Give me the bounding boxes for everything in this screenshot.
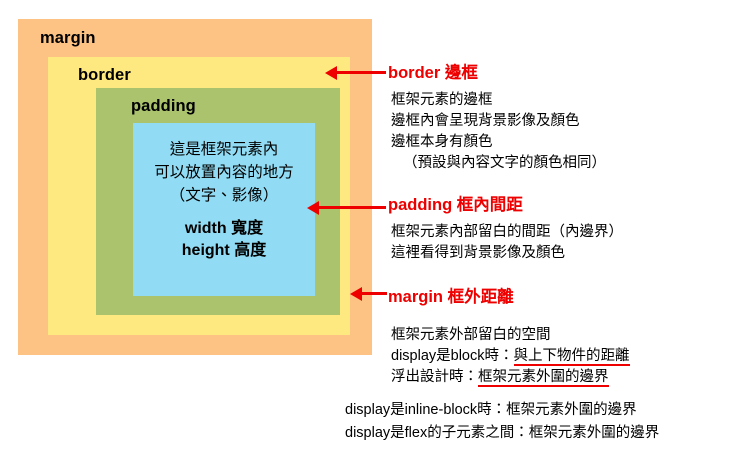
annotation-border-line-2: 邊框內會呈現背景影像及顏色 <box>391 111 606 132</box>
content-line-1: 這是框架元素內 <box>133 138 315 161</box>
annotation-border-line-4: （預設與內容文字的顏色相同） <box>391 153 606 174</box>
annotation-margin: margin 框外距離 框架元素外部留白的空間 display是block時：與… <box>388 283 630 388</box>
annotation-margin-line-1: 框架元素外部留白的空間 <box>391 325 630 346</box>
annotation-margin-line-2: display是block時：與上下物件的距離 <box>391 346 630 367</box>
content-line-2: 可以放置內容的地方 <box>133 161 315 184</box>
annotation-margin-heading: margin 框外距離 <box>388 283 630 307</box>
annotation-margin-line-2-prefix: display是block時： <box>391 348 514 364</box>
annotation-margin-line-3-prefix: 浮出設計時： <box>391 369 478 385</box>
annotation-extra-line-2-prefix: display是flex的子元素之間： <box>345 425 529 441</box>
annotation-padding-heading: padding 框內間距 <box>388 191 623 215</box>
annotation-extra-line-2-underlined: 框架元素外圍的邊界 <box>529 425 660 441</box>
annotation-border-heading: border 邊框 <box>388 59 606 83</box>
annotation-margin-line-2-underlined: 與上下物件的距離 <box>514 348 630 366</box>
content-spacer <box>133 207 315 218</box>
annotation-extra-line-1: display是inline-block時：框架元素外圍的邊界 <box>345 399 659 422</box>
content-box-text: 這是框架元素內 可以放置內容的地方 （文字、影像） width 寬度 heigh… <box>133 138 315 262</box>
content-width-label: width 寬度 <box>133 218 315 240</box>
arrow-to-border-icon <box>336 71 386 74</box>
annotation-margin-line-3-underlined: 框架元素外圍的邊界 <box>478 369 609 387</box>
annotation-padding-line-2: 這裡看得到背景影像及顏色 <box>391 243 623 264</box>
content-height-label: height 高度 <box>133 240 315 262</box>
annotation-extra-line-2: display是flex的子元素之間：框架元素外圍的邊界 <box>345 422 659 445</box>
annotation-border-line-3: 邊框本身有顏色 <box>391 132 606 153</box>
border-box: border padding 這是框架元素內 可以放置內容的地方 （文字、影像）… <box>48 57 350 335</box>
padding-box-label: padding <box>131 97 196 116</box>
border-box-label: border <box>78 66 131 85</box>
padding-box: padding 這是框架元素內 可以放置內容的地方 （文字、影像） width … <box>96 88 340 315</box>
annotation-extra: display是inline-block時：框架元素外圍的邊界 display是… <box>345 399 659 445</box>
arrow-to-padding-icon <box>318 206 386 209</box>
annotation-padding: padding 框內間距 框架元素內部留白的間距（內邊界） 這裡看得到背景影像及… <box>388 191 623 264</box>
margin-box: margin border padding 這是框架元素內 可以放置內容的地方 … <box>18 19 372 355</box>
arrow-to-margin-icon <box>361 292 387 295</box>
margin-box-label: margin <box>40 29 96 48</box>
annotation-extra-line-1-underlined: 框架元素外圍的邊界 <box>506 402 637 418</box>
annotation-padding-line-1: 框架元素內部留白的間距（內邊界） <box>391 222 623 243</box>
annotation-extra-line-1-prefix: display是inline-block時： <box>345 402 506 418</box>
box-model-diagram-canvas: margin border padding 這是框架元素內 可以放置內容的地方 … <box>0 0 750 461</box>
annotation-border-line-1: 框架元素的邊框 <box>391 90 606 111</box>
annotation-margin-line-3: 浮出設計時：框架元素外圍的邊界 <box>391 367 630 388</box>
content-line-3: （文字、影像） <box>133 184 315 207</box>
content-box: 這是框架元素內 可以放置內容的地方 （文字、影像） width 寬度 heigh… <box>133 123 315 296</box>
annotation-border: border 邊框 框架元素的邊框 邊框內會呈現背景影像及顏色 邊框本身有顏色 … <box>388 59 606 174</box>
